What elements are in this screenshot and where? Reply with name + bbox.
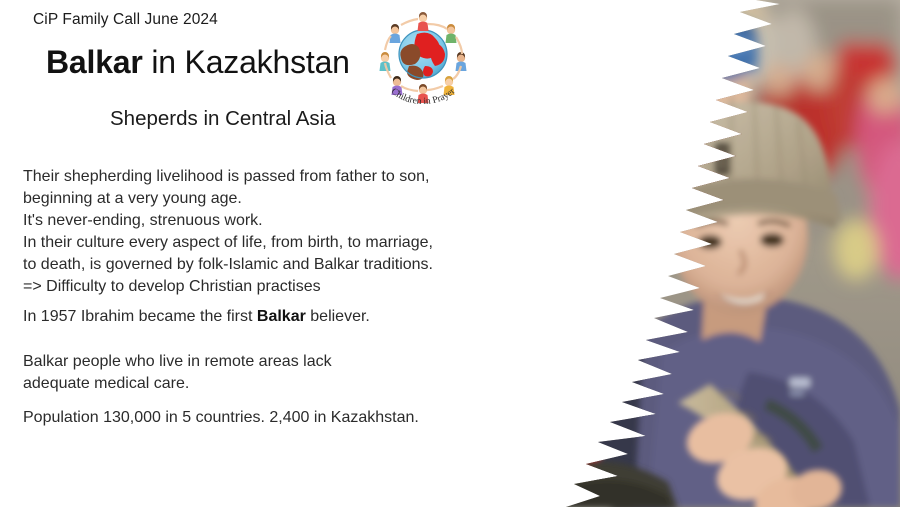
- page-title: Balkar in Kazakhstan: [46, 44, 350, 81]
- body-paragraph-population: Population 130,000 in 5 countries. 2,400…: [23, 407, 419, 429]
- body-line: It's never-ending, strenuous work.: [23, 210, 433, 232]
- believer-text-bold: Balkar: [257, 308, 306, 325]
- title-rest-part: in Kazakhstan: [143, 44, 350, 80]
- photo-panel: [448, 0, 900, 507]
- body-paragraph-medical-care: Balkar people who live in remote areas l…: [23, 351, 332, 395]
- body-line: In their culture every aspect of life, f…: [23, 232, 433, 254]
- body-line: Their shepherding livelihood is passed f…: [23, 166, 433, 188]
- body-line: => Difficulty to develop Christian pract…: [23, 276, 433, 298]
- title-bold-part: Balkar: [46, 44, 143, 80]
- boys-pulling-rope-photo: [448, 0, 900, 507]
- body-line: Balkar people who live in remote areas l…: [23, 351, 332, 373]
- page-subtitle: Sheperds in Central Asia: [110, 107, 336, 131]
- slide-root: Children in Prayer CiP Family Call June …: [0, 0, 900, 507]
- body-paragraph-culture: Their shepherding livelihood is passed f…: [23, 166, 433, 298]
- children-in-prayer-logo: Children in Prayer: [377, 12, 469, 104]
- body-line: In 1957 Ibrahim became the first Balkar …: [23, 306, 370, 328]
- kicker-label: CiP Family Call June 2024: [33, 11, 218, 29]
- body-line: adequate medical care.: [23, 373, 332, 395]
- believer-text-after: believer.: [306, 308, 370, 325]
- body-line: Population 130,000 in 5 countries. 2,400…: [23, 407, 419, 429]
- believer-text-before: In 1957 Ibrahim became the first: [23, 308, 257, 325]
- body-line: beginning at a very young age.: [23, 188, 433, 210]
- body-paragraph-first-believer: In 1957 Ibrahim became the first Balkar …: [23, 306, 370, 328]
- body-line: to death, is governed by folk-Islamic an…: [23, 254, 433, 276]
